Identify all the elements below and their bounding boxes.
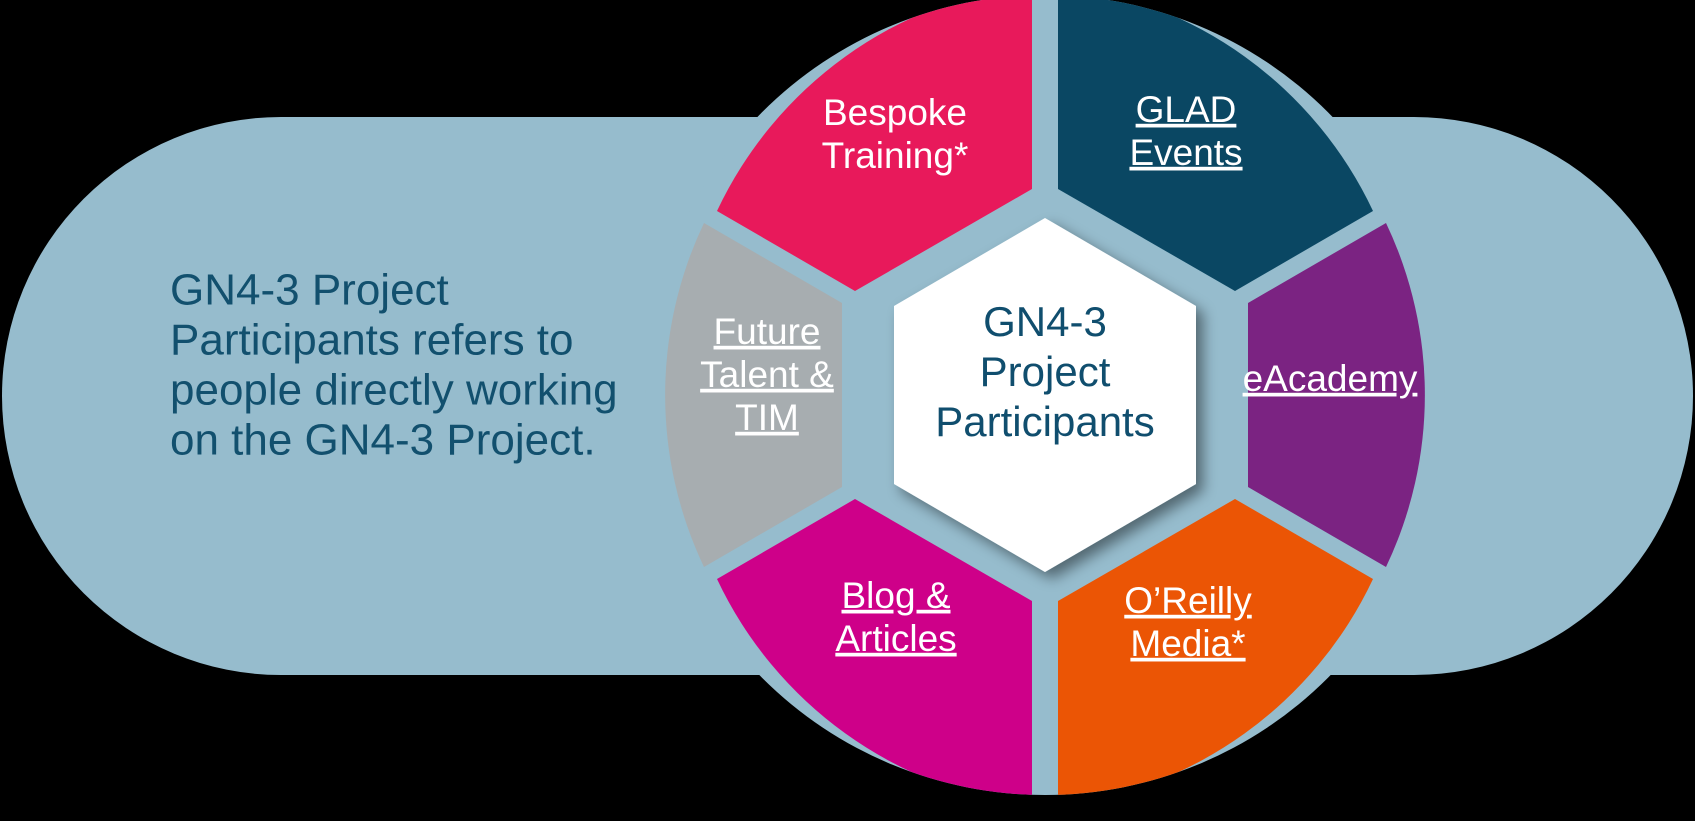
- gn4-3-participants-diagram: GN4-3 Project Participants refers to peo…: [0, 0, 1695, 821]
- segment-eacademy-line-1: eAcademy: [1243, 358, 1418, 399]
- intro-line-1: GN4-3 Project: [170, 266, 449, 315]
- intro-line-3: people directly working: [170, 366, 618, 415]
- center-hub-line-2: Project: [980, 348, 1111, 395]
- segment-future-talent-tim-line-1: Future: [714, 311, 821, 352]
- segment-oreilly-media-line-1: O’Reilly: [1124, 580, 1252, 621]
- center-hub-line-1: GN4-3: [983, 298, 1107, 345]
- intro-line-4: on the GN4-3 Project.: [170, 416, 596, 465]
- center-hub-line-3: Participants: [935, 398, 1154, 445]
- segment-future-talent-tim-line-3: TIM: [735, 397, 799, 438]
- segment-blog-articles-line-2: Articles: [835, 618, 956, 659]
- segment-blog-articles-line-1: Blog &: [841, 575, 950, 616]
- segment-glad-events-line-1: GLAD: [1136, 89, 1237, 130]
- segment-oreilly-media-line-2: Media*: [1130, 623, 1245, 664]
- diagram-canvas: GN4-3 Project Participants refers to peo…: [0, 0, 1695, 821]
- segment-bespoke-training-line-2: Training*: [822, 135, 969, 176]
- segment-bespoke-training-line-1: Bespoke: [823, 92, 967, 133]
- segment-future-talent-tim-line-2: Talent &: [700, 354, 834, 395]
- segment-glad-events-line-2: Events: [1129, 132, 1242, 173]
- intro-line-2: Participants refers to: [170, 316, 574, 365]
